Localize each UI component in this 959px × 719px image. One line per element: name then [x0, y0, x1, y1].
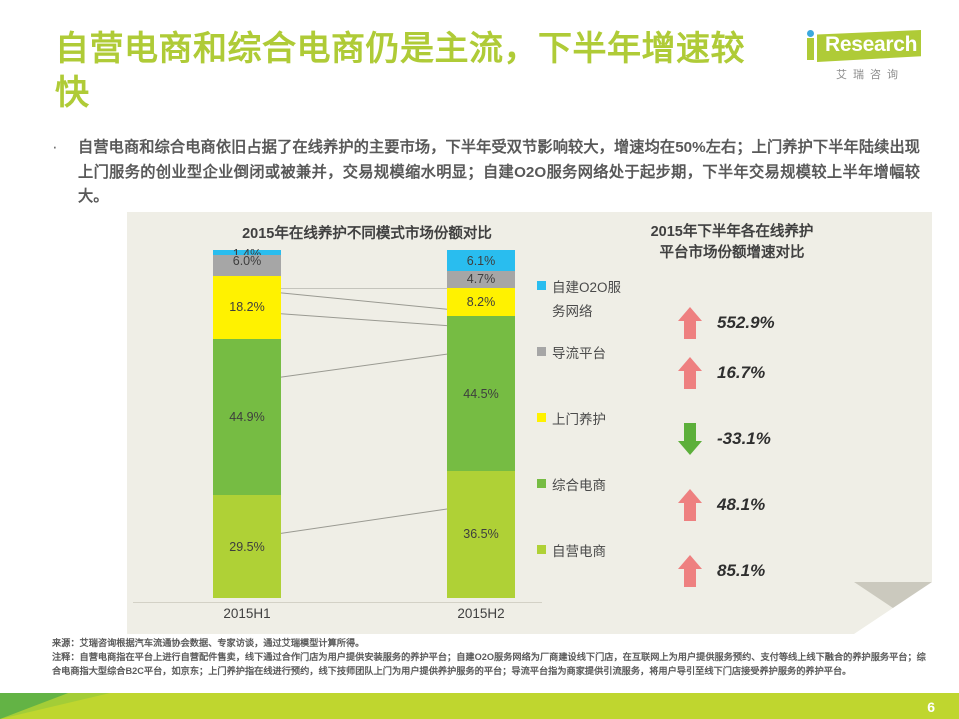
bar-segment-2015H2-4: 36.5% — [447, 471, 515, 598]
legend-entry: 自营电商 — [537, 540, 667, 564]
footer-bar: 6 — [0, 693, 959, 719]
legend-swatch-icon — [537, 479, 546, 488]
legend-swatch-icon — [537, 545, 546, 554]
bar-segment-label: 6.0% — [233, 254, 262, 268]
connector-line — [281, 509, 447, 533]
bar-segment-2015H2-2: 8.2% — [447, 288, 515, 317]
growth-row-2: 上门养护-33.1% — [537, 408, 927, 464]
bar-segment-label: 44.9% — [229, 410, 264, 424]
logo-wordmark: Research — [825, 33, 917, 57]
growth-value-group: -33.1% — [677, 422, 771, 456]
x-axis-label-2015H1: 2015H1 — [177, 606, 317, 621]
bullet-paragraph: · 自营电商和综合电商依旧占据了在线养护的主要市场，下半年受双节影响较大，增速均… — [52, 136, 920, 210]
legend-swatch-icon — [537, 281, 546, 290]
iresearch-logo: Research 艾瑞咨询 — [801, 28, 921, 88]
legend-entry: 综合电商 — [537, 474, 667, 498]
growth-value-group: 16.7% — [677, 356, 765, 390]
bar-segment-label: 36.5% — [463, 527, 498, 541]
legend-label: 综合电商 — [552, 474, 662, 498]
arrow-up-icon — [677, 554, 703, 588]
legend-label: 自营电商 — [552, 540, 662, 564]
legend-label: 上门养护 — [552, 408, 662, 432]
legend-swatch-icon — [537, 347, 546, 356]
legend-swatch-icon — [537, 413, 546, 422]
stacked-bar-chart: 1.4%6.0%18.2%44.9%29.5% 6.1%4.7%8.2%44.5… — [127, 250, 542, 602]
growth-value: 85.1% — [717, 561, 765, 581]
arrow-up-icon — [677, 306, 703, 340]
growth-row-1: 导流平台16.7% — [537, 342, 927, 398]
legend-label: 自建O2O服务网络 — [552, 276, 662, 323]
logo-i-stem — [807, 38, 814, 60]
connector-line — [281, 354, 447, 377]
bar-segment-2015H2-1: 4.7% — [447, 271, 515, 287]
arrow-up-icon — [677, 356, 703, 390]
bar-segment-2015H1-3: 44.9% — [213, 339, 281, 495]
legend-label-line: 自营电商 — [552, 540, 662, 564]
arrow-down-icon — [677, 422, 703, 456]
legend-label-line: 自建O2O服 — [552, 276, 662, 300]
bar-segment-label: 6.1% — [467, 254, 496, 268]
page-title: 自营电商和综合电商仍是主流，下半年增速较快 — [55, 28, 775, 115]
page-number: 6 — [927, 699, 935, 715]
growth-value: 552.9% — [717, 313, 775, 333]
growth-value: 16.7% — [717, 363, 765, 383]
legend-label-line: 务网络 — [552, 300, 662, 324]
growth-value-group: 552.9% — [677, 306, 775, 340]
annotation-note: 注释：自营电商指在平台上进行自营配件售卖，线下通过合作门店为用户提供安装服务的养… — [52, 651, 932, 679]
arrow-up-icon — [677, 488, 703, 522]
x-axis-label-2015H2: 2015H2 — [411, 606, 551, 621]
bullet-body-text: 自营电商和综合电商依旧占据了在线养护的主要市场，下半年受双节影响较大，增速均在5… — [78, 136, 920, 210]
footnotes: 来源：艾瑞咨询根据汽车流通协会数据、专家访谈，通过艾瑞模型计算所得。 注释：自营… — [52, 637, 932, 679]
logo-mark: Research — [801, 28, 921, 66]
connector-line — [281, 314, 447, 326]
growth-value: -33.1% — [717, 429, 771, 449]
legend-label-line: 上门养护 — [552, 408, 662, 432]
x-axis-line — [133, 602, 542, 603]
bar-segment-2015H2-0: 6.1% — [447, 250, 515, 271]
bar-segment-label: 4.7% — [467, 272, 496, 286]
legend-entry: 导流平台 — [537, 342, 667, 366]
bar-segment-label: 44.5% — [463, 387, 498, 401]
bar-segment-label: 8.2% — [467, 295, 496, 309]
bar-segment-label: 29.5% — [229, 540, 264, 554]
source-note: 来源：艾瑞咨询根据汽车流通协会数据、专家访谈，通过艾瑞模型计算所得。 — [52, 637, 932, 651]
bar-segment-2015H1-2: 18.2% — [213, 276, 281, 339]
growth-value-group: 48.1% — [677, 488, 765, 522]
right-chart-title-line: 平台市场份额增速对比 — [582, 243, 882, 264]
growth-value-group: 85.1% — [677, 554, 765, 588]
growth-legend-list: 自建O2O服务网络552.9%导流平台16.7%上门养护-33.1%综合电商48… — [537, 276, 927, 606]
bullet-marker: · — [52, 136, 78, 210]
legend-label-line: 导流平台 — [552, 342, 662, 366]
right-chart-title-line: 2015年下半年各在线养护 — [582, 222, 882, 243]
legend-entry: 上门养护 — [537, 408, 667, 432]
logo-i-dot-icon — [807, 30, 814, 37]
growth-value: 48.1% — [717, 495, 765, 515]
logo-subtitle: 艾瑞咨询 — [819, 66, 921, 82]
bar-segment-2015H1-1: 6.0% — [213, 255, 281, 276]
legend-entry: 自建O2O服务网络 — [537, 276, 667, 323]
legend-label-line: 综合电商 — [552, 474, 662, 498]
legend-label: 导流平台 — [552, 342, 662, 366]
right-chart-title: 2015年下半年各在线养护平台市场份额增速对比 — [582, 222, 882, 263]
chart-panel: 2015年在线养护不同模式市场份额对比 2015年下半年各在线养护平台市场份额增… — [127, 212, 932, 634]
bar-segment-2015H2-3: 44.5% — [447, 316, 515, 471]
bar-segment-label: 18.2% — [229, 300, 264, 314]
growth-row-0: 自建O2O服务网络552.9% — [537, 276, 927, 332]
bar-2015H2: 6.1%4.7%8.2%44.5%36.5% — [447, 250, 515, 598]
growth-row-3: 综合电商48.1% — [537, 474, 927, 530]
bar-segment-2015H1-4: 29.5% — [213, 495, 281, 598]
bar-2015H1: 1.4%6.0%18.2%44.9%29.5% — [213, 250, 281, 598]
connector-line — [281, 293, 447, 309]
left-chart-title: 2015年在线养护不同模式市场份额对比 — [202, 224, 532, 245]
